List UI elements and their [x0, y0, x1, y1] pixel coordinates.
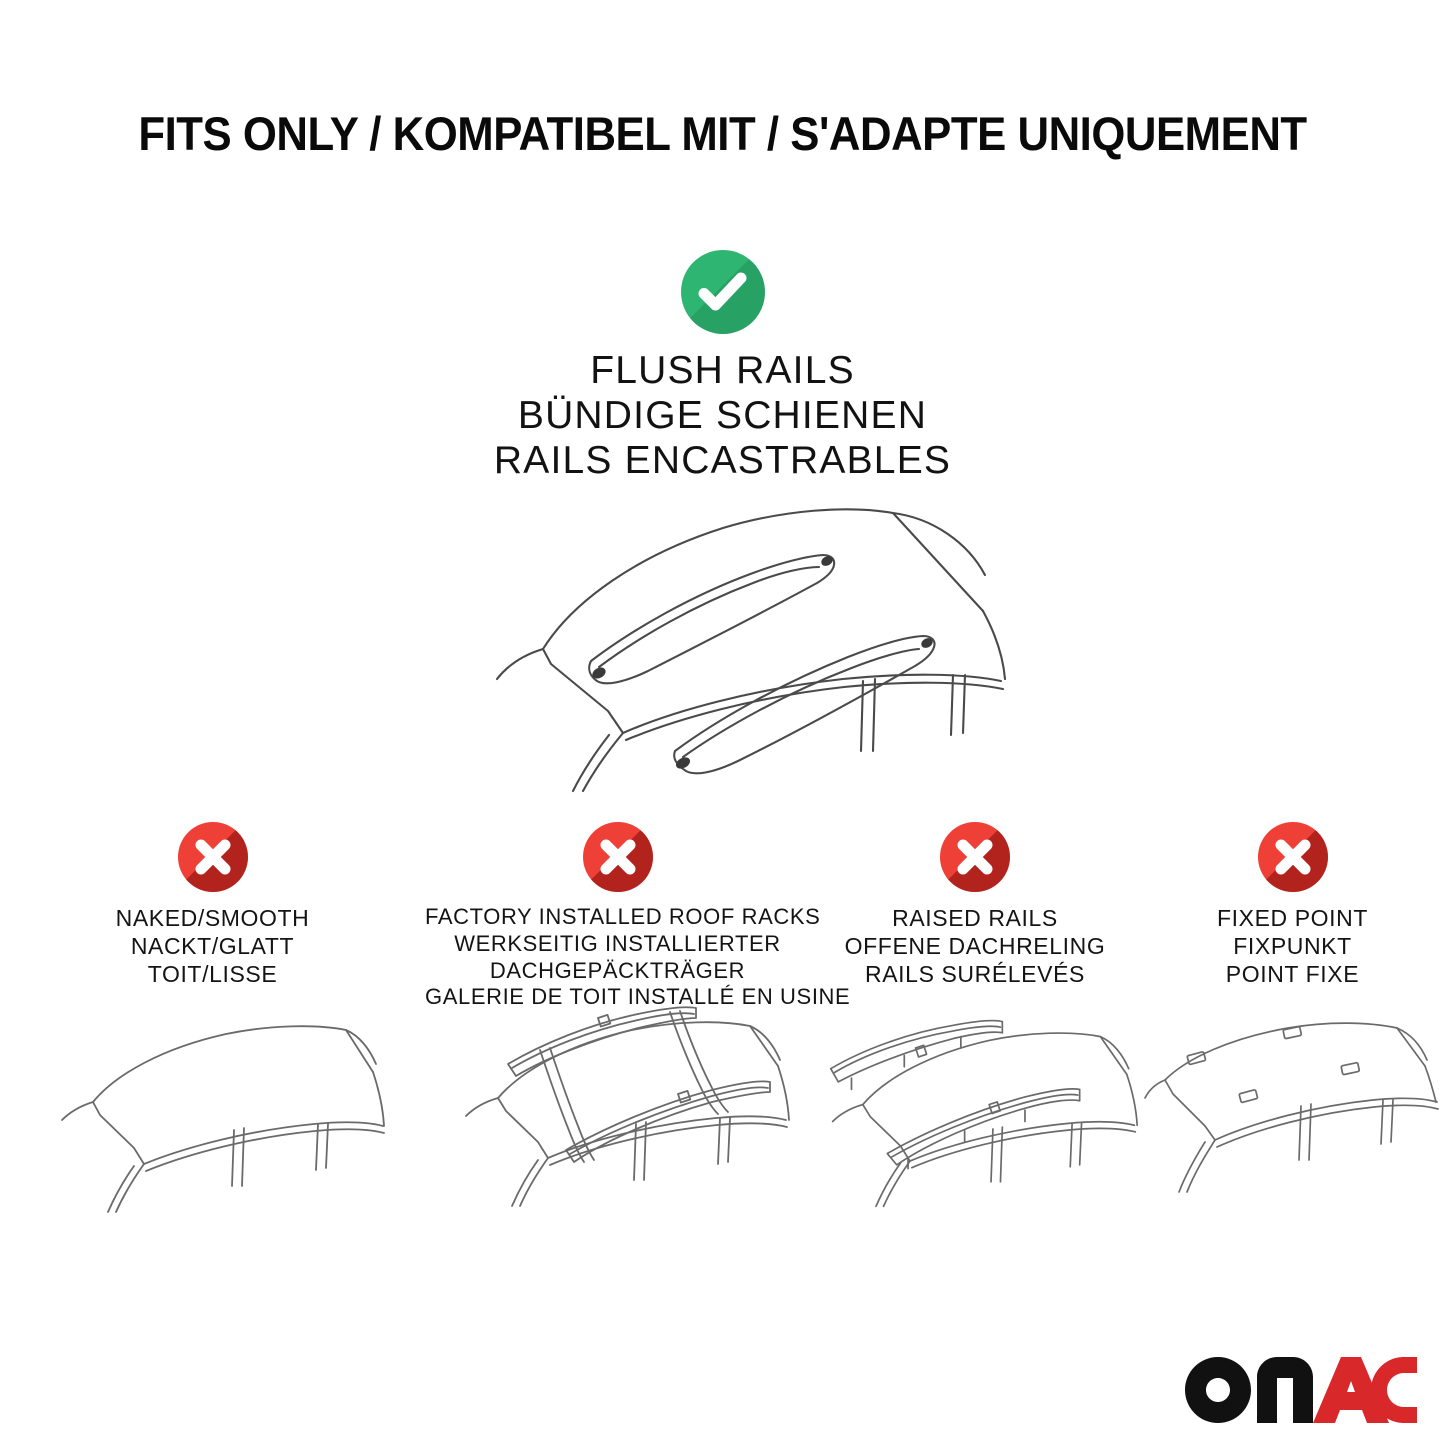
item-labels: FACTORY INSTALLED ROOF RACKS WERKSEITIG … [425, 904, 810, 1011]
incompatible-item-fixed-point: FIXED POINT FIXPUNKT POINT FIXE [1140, 822, 1445, 1011]
incompatible-item-raised-rails: RAISED RAILS OFFENE DACHRELING RAILS SUR… [810, 822, 1140, 1011]
car-roof-factory-racks-illustration [425, 998, 810, 1218]
item-label-fr: POINT FIXE [1140, 960, 1445, 988]
compatible-section: FLUSH RAILS BÜNDIGE SCHIENEN RAILS ENCAS… [0, 250, 1445, 484]
compatible-labels: FLUSH RAILS BÜNDIGE SCHIENEN RAILS ENCAS… [0, 348, 1445, 484]
item-labels: FIXED POINT FIXPUNKT POINT FIXE [1140, 904, 1445, 988]
item-label-en: NAKED/SMOOTH [0, 904, 425, 932]
car-roof-raised-rails-illustration [810, 1008, 1140, 1218]
item-labels: NAKED/SMOOTH NACKT/GLATT TOIT/LISSE [0, 904, 425, 988]
item-label-en: RAISED RAILS [810, 904, 1140, 932]
incompatible-item-naked-smooth: NAKED/SMOOTH NACKT/GLATT TOIT/LISSE [0, 822, 425, 1011]
car-roof-naked-smooth-illustration [0, 1020, 425, 1220]
x-circle-icon [178, 822, 248, 892]
infographic-canvas: FITS ONLY / KOMPATIBEL MIT / S'ADAPTE UN… [0, 0, 1445, 1445]
car-roof-flush-rails-illustration [0, 483, 1445, 793]
incompatible-section: NAKED/SMOOTH NACKT/GLATT TOIT/LISSE [0, 822, 1445, 1011]
item-label-fr: RAILS SURÉLEVÉS [810, 960, 1140, 988]
item-label-de: OFFENE DACHRELING [810, 932, 1140, 960]
item-label-fr: TOIT/LISSE [0, 960, 425, 988]
item-label-de: FIXPUNKT [1140, 932, 1445, 960]
car-roof-fixed-point-illustration [1140, 1018, 1445, 1218]
item-label-en: FIXED POINT [1140, 904, 1445, 932]
x-circle-icon [940, 822, 1010, 892]
omac-logo: OMAC [1185, 1357, 1417, 1423]
item-label-de-line1: WERKSEITIG INSTALLIERTER [425, 931, 810, 958]
compatible-label-fr: RAILS ENCASTRABLES [0, 438, 1445, 483]
page-title: FITS ONLY / KOMPATIBEL MIT / S'ADAPTE UN… [51, 106, 1395, 161]
incompatible-item-factory-installed-roof-racks: FACTORY INSTALLED ROOF RACKS WERKSEITIG … [425, 822, 810, 1011]
item-label-de: NACKT/GLATT [0, 932, 425, 960]
check-circle-icon [681, 250, 765, 334]
compatible-label-de: BÜNDIGE SCHIENEN [0, 393, 1445, 438]
x-circle-icon [1258, 822, 1328, 892]
x-circle-icon [583, 822, 653, 892]
item-label-de-line2: DACHGEPÄCKTRÄGER [425, 958, 810, 985]
compatible-label-en: FLUSH RAILS [0, 348, 1445, 393]
item-labels: RAISED RAILS OFFENE DACHRELING RAILS SUR… [810, 904, 1140, 988]
item-label-en: FACTORY INSTALLED ROOF RACKS [425, 904, 810, 931]
